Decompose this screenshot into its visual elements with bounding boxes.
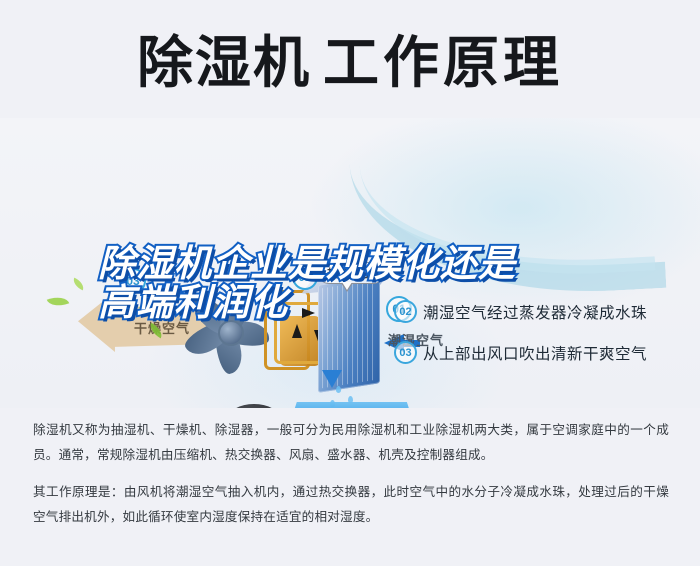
overlay-headline-line-1: 除湿机企业是规模化还是 xyxy=(98,244,618,283)
title-part-2: 工作原理 xyxy=(323,31,563,94)
legend-item: 02 潮湿空气经过蒸发器冷凝成水珠 xyxy=(394,300,684,323)
article-body: 除湿机又称为抽湿机、干燥机、除湿器，一般可分为民用除湿机和工业除湿机两大类，属于… xyxy=(33,418,669,542)
title-text: 除湿机工作原理 xyxy=(137,35,563,91)
water-tank-rim xyxy=(284,402,412,408)
fan-hub xyxy=(218,320,244,346)
legend-badge-02: 02 xyxy=(394,300,417,323)
water-droplet-icon xyxy=(348,396,353,403)
process-legend: 02 潮湿空气经过蒸发器冷凝成水珠 03 从上部出风口吹出清新干爽空气 xyxy=(394,300,684,382)
legend-badge-03: 03 xyxy=(394,341,417,364)
title-part-1: 除湿机 xyxy=(137,31,311,94)
water-droplet-icon xyxy=(336,386,341,393)
body-paragraph-1: 除湿机又称为抽湿机、干燥机、除湿器，一般可分为民用除湿机和工业除湿机两大类，属于… xyxy=(33,418,669,467)
page-root: 除湿机工作原理 干燥空气 xyxy=(0,0,700,566)
legend-text-03: 从上部出风口吹出清新干爽空气 xyxy=(423,342,647,364)
body-paragraph-2: 其工作原理是：由风机将潮湿空气抽入机内，通过热交换器，此时空气中的水分子冷凝成水… xyxy=(33,480,669,529)
arrow-up-icon xyxy=(292,324,302,338)
legend-item: 03 从上部出风口吹出清新干爽空气 xyxy=(394,341,684,364)
page-title: 除湿机工作原理 xyxy=(0,22,700,104)
legend-text-02: 潮湿空气经过蒸发器冷凝成水珠 xyxy=(423,301,647,323)
